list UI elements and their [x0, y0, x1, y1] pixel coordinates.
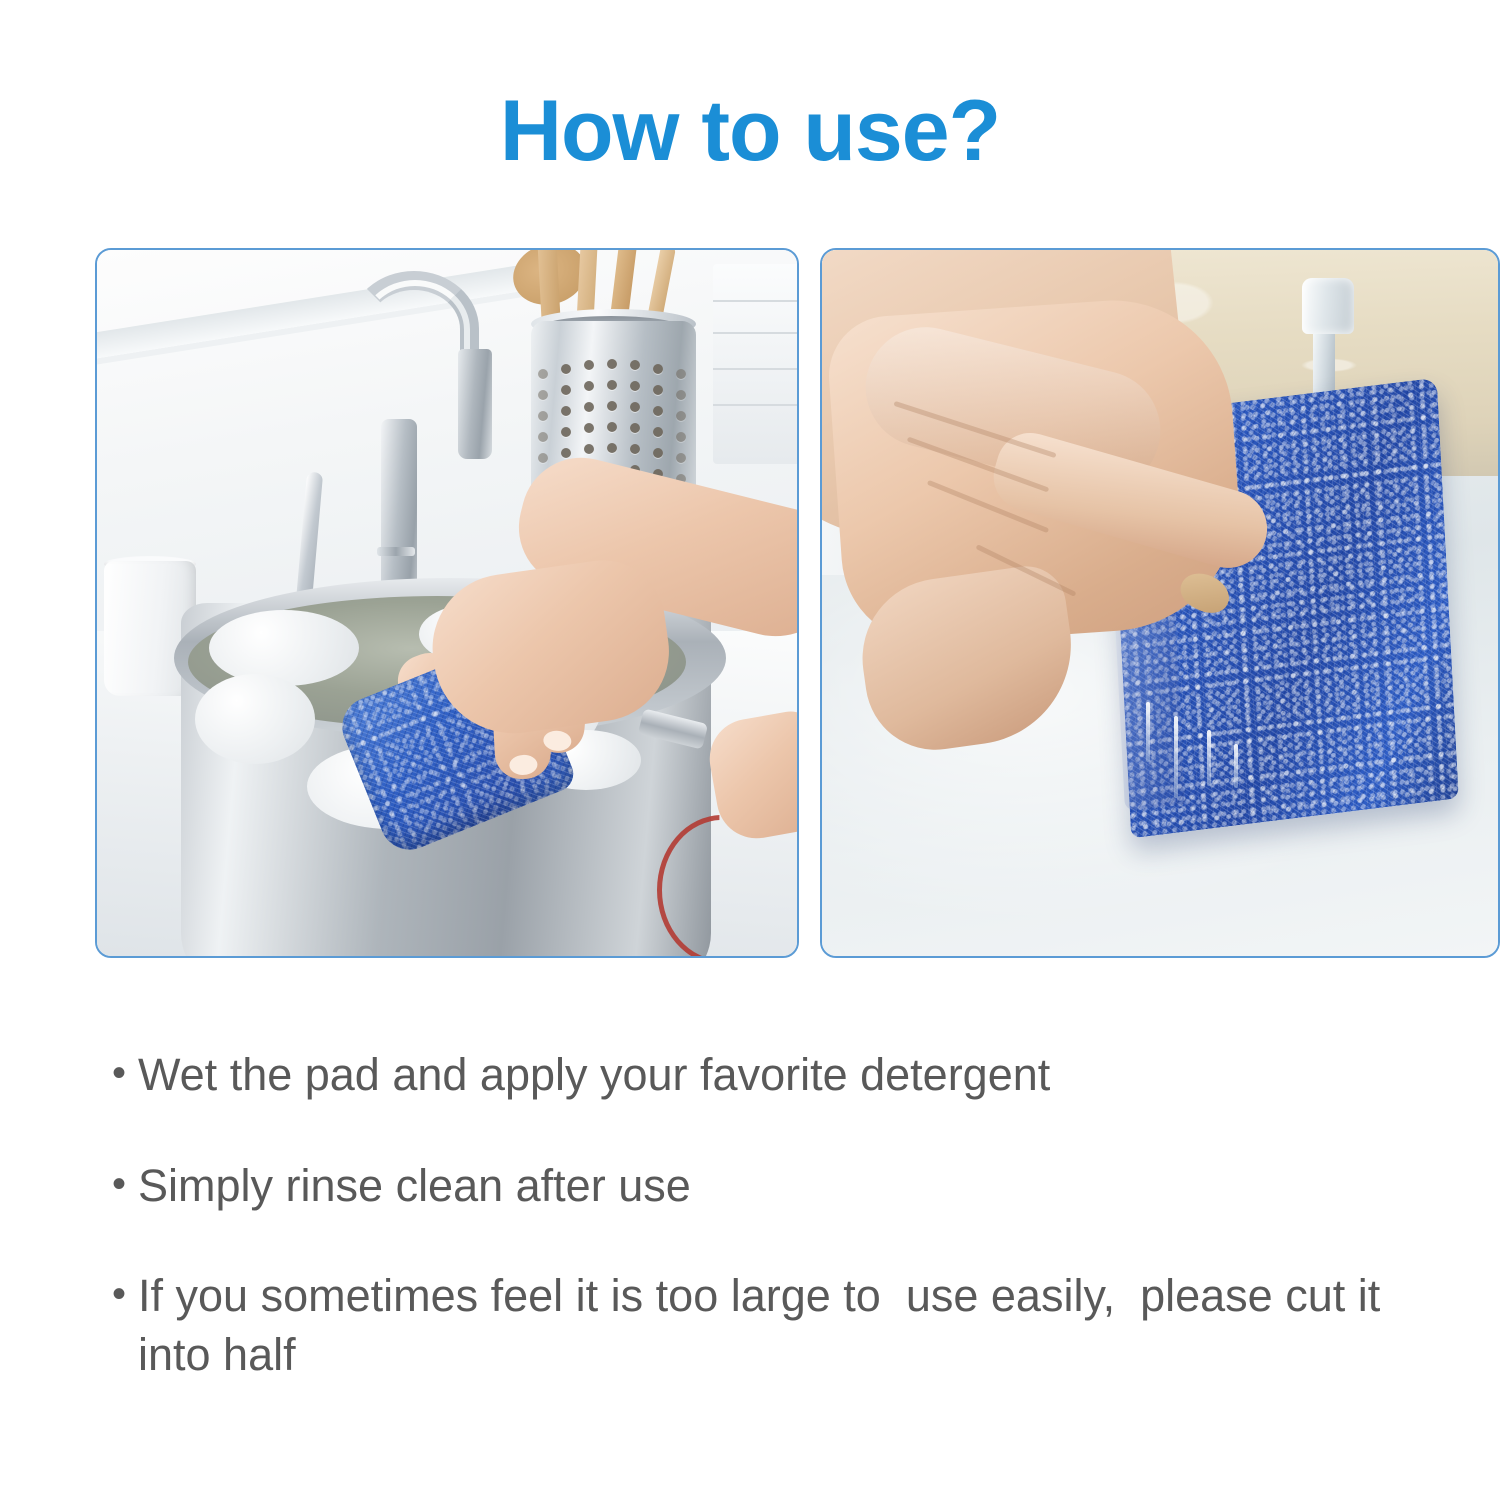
list-item: • Wet the pad and apply your favorite de…	[112, 1046, 1452, 1105]
bullet-icon: •	[112, 1267, 138, 1321]
soap-suds	[195, 674, 315, 764]
water-drip	[1207, 730, 1211, 786]
faucet-ring	[377, 547, 415, 556]
bullet-icon: •	[112, 1046, 138, 1100]
soap-suds	[209, 610, 359, 686]
page-title: How to use?	[0, 88, 1500, 174]
rinsing-pad-photo-panel	[820, 248, 1500, 958]
background-boxes	[713, 264, 797, 464]
list-item-label: If you sometimes feel it is too large to…	[138, 1267, 1452, 1384]
water-drip	[1234, 744, 1238, 788]
list-item-label: Simply rinse clean after use	[138, 1157, 1452, 1216]
faucet-spout-highlight	[360, 280, 470, 374]
rinsing-pad-photo	[822, 250, 1498, 956]
washing-pot-photo-panel	[95, 248, 799, 958]
list-item: • If you sometimes feel it is too large …	[112, 1267, 1452, 1384]
fingernail	[508, 755, 537, 776]
water-drip	[1174, 716, 1178, 798]
list-item: • Simply rinse clean after use	[112, 1157, 1452, 1216]
instruction-list: • Wet the pad and apply your favorite de…	[112, 1046, 1452, 1384]
water-drip	[1146, 702, 1150, 762]
clear-tap-knob	[1302, 278, 1354, 334]
fingernail	[542, 730, 572, 752]
list-item-label: Wet the pad and apply your favorite dete…	[138, 1046, 1452, 1105]
faucet-outlet	[458, 349, 492, 459]
bullet-icon: •	[112, 1157, 138, 1211]
washing-pot-photo	[97, 250, 797, 956]
